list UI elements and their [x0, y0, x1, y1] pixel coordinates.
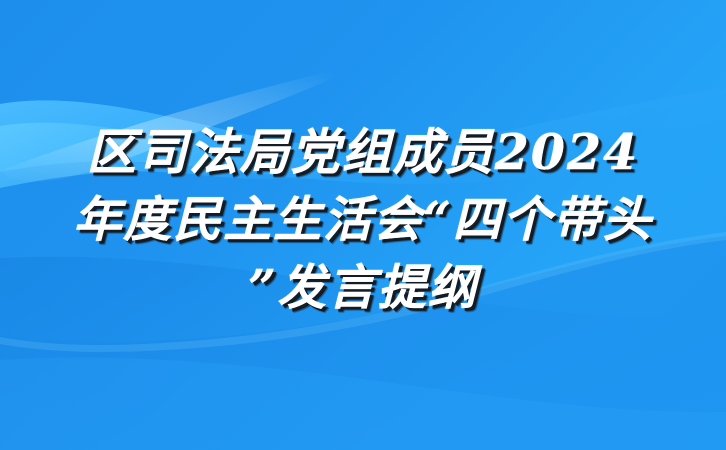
- title-line-2: 年度民主生活会“四个带头: [73, 186, 653, 254]
- title-line-1: 区司法局党组成员2024: [87, 118, 639, 186]
- banner-title-block: 区司法局党组成员2024 年度民主生活会“四个带头 ”发言提纲: [0, 118, 726, 322]
- title-line-3: ”发言提纲: [248, 254, 478, 322]
- banner-canvas: 区司法局党组成员2024 年度民主生活会“四个带头 ”发言提纲: [0, 0, 726, 450]
